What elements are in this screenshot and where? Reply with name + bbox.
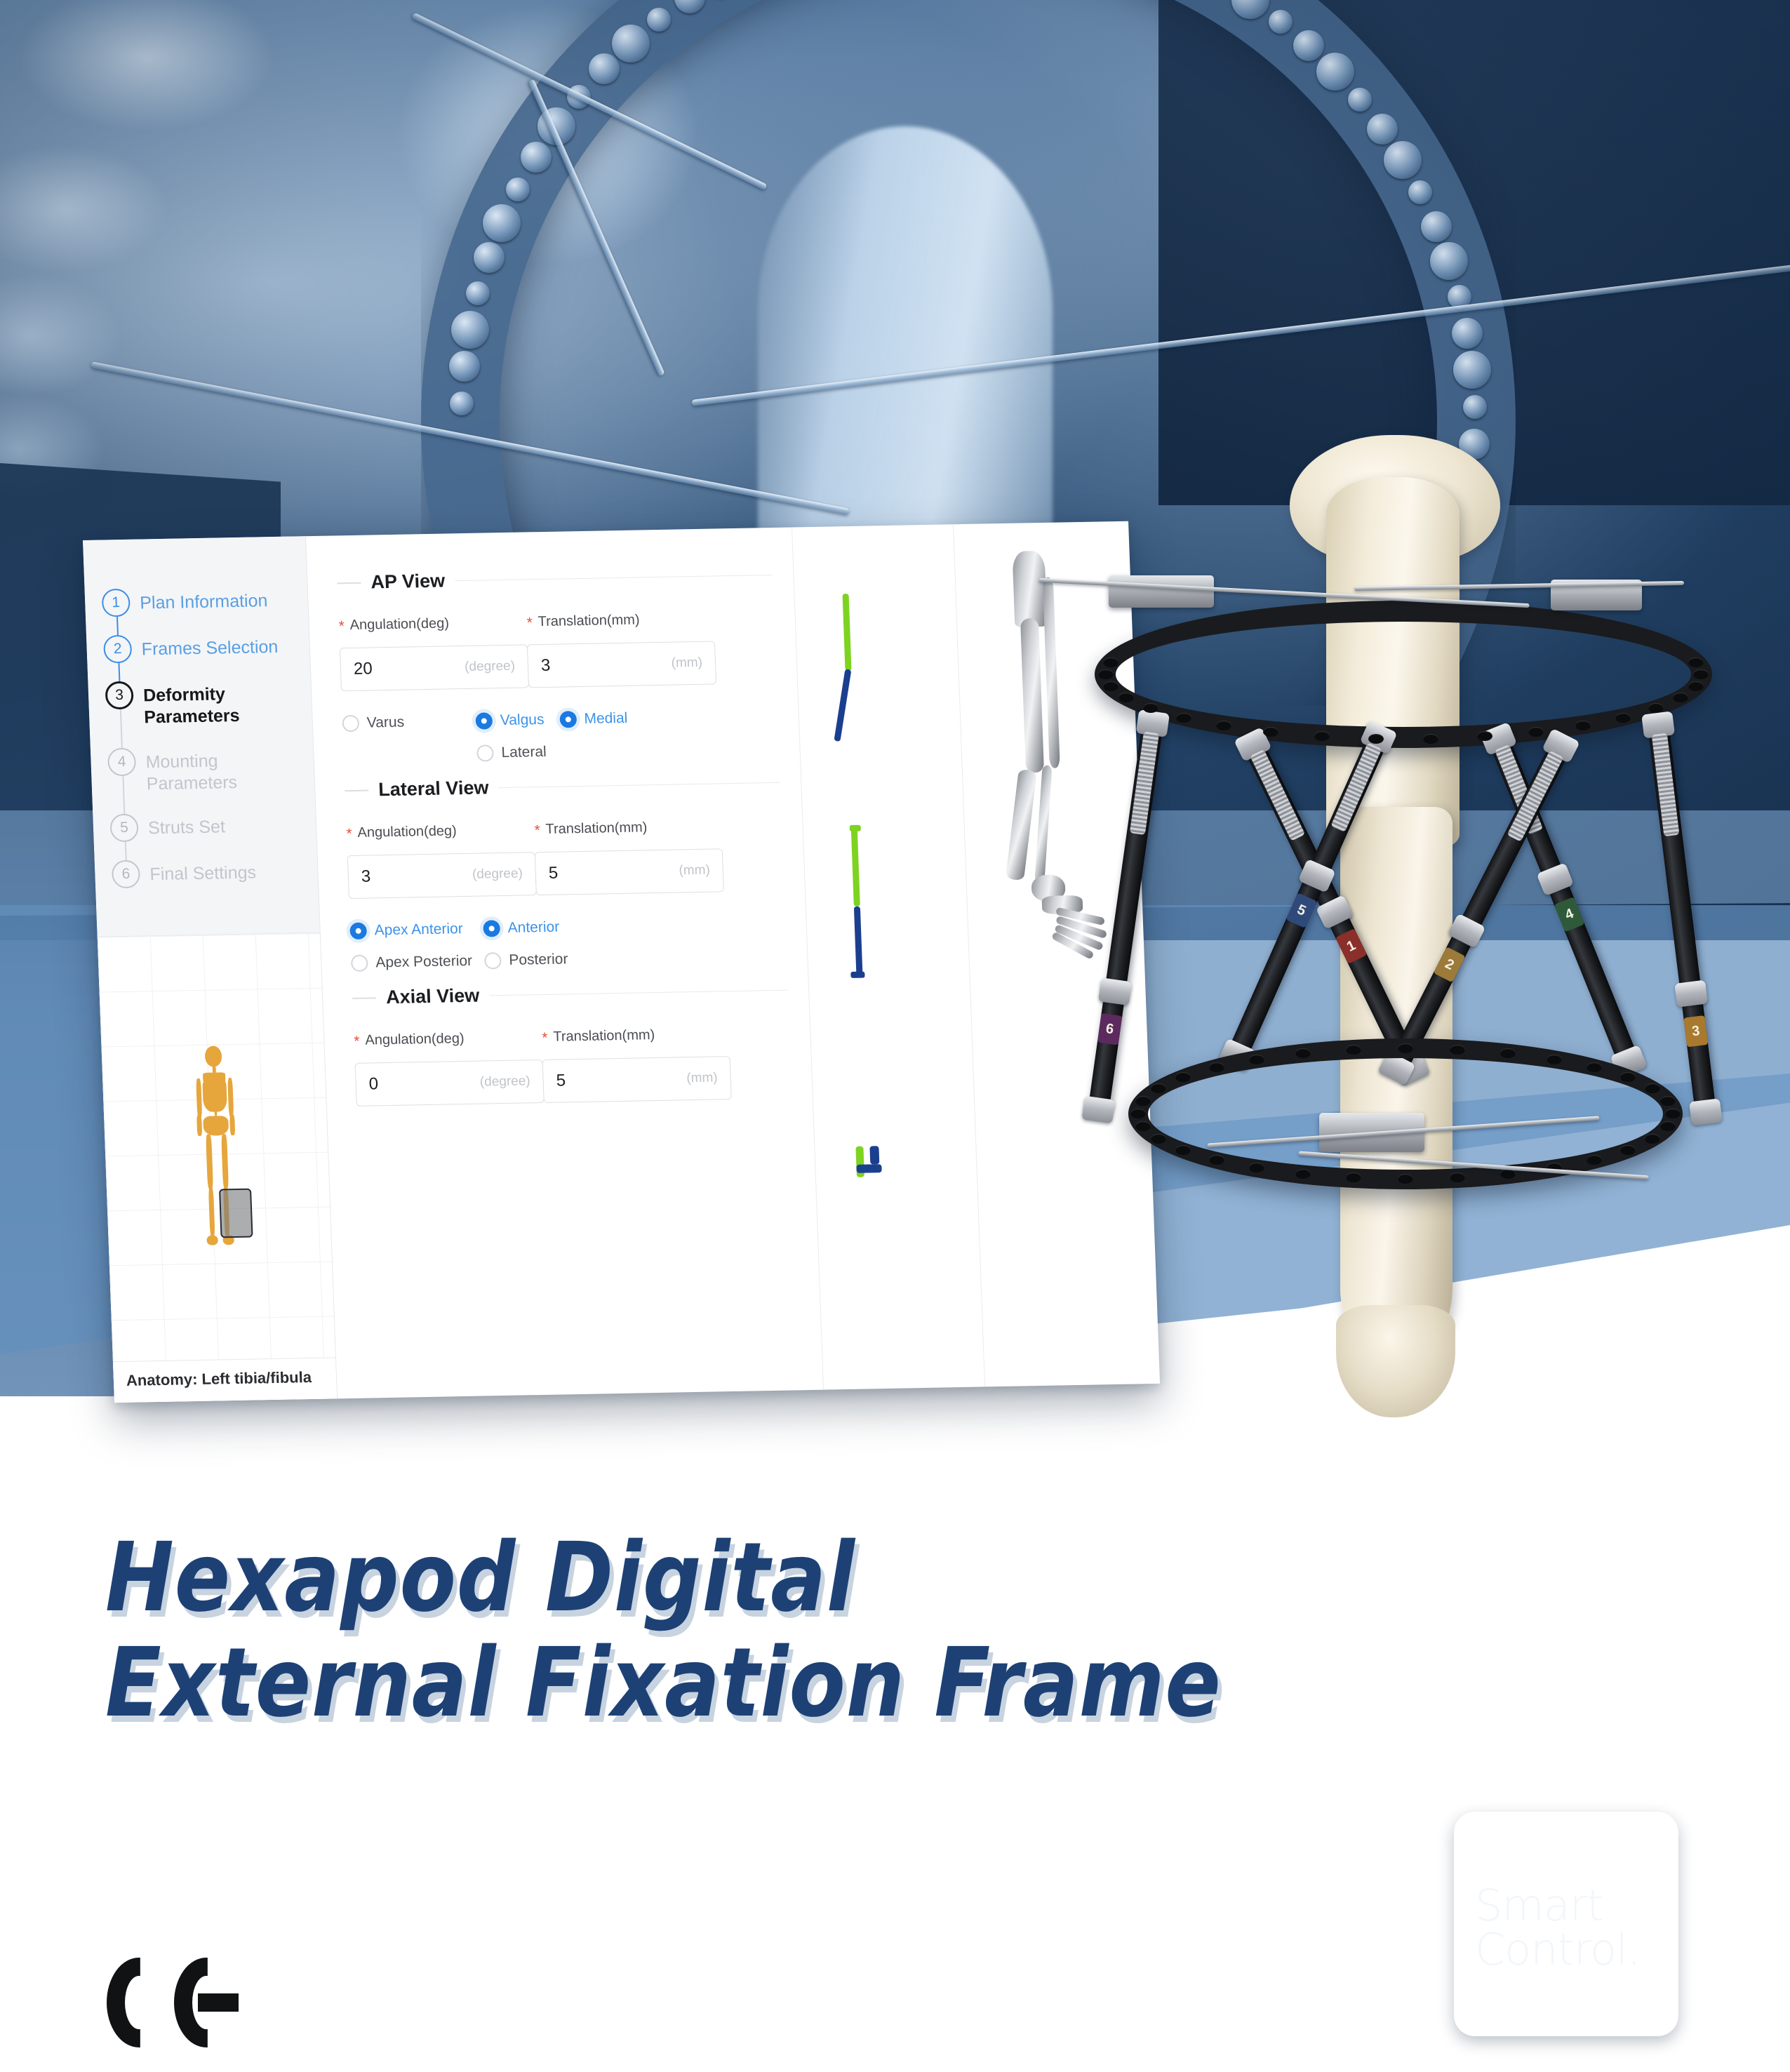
strut-collar (1448, 913, 1486, 948)
step-number-badge: 6 (112, 860, 140, 889)
radio-label: Apex Anterior (374, 921, 463, 939)
ring-mounting-hole (1368, 734, 1384, 744)
wizard-step-6[interactable]: 6Final Settings (112, 857, 319, 900)
translation-input[interactable]: 3(mm) (527, 641, 716, 688)
ring-mounting-hole (1209, 1062, 1224, 1072)
ring-mounting-hole (1587, 1155, 1602, 1165)
section-lateral-view: Lateral ViewAngulation(deg)Translation(m… (345, 772, 787, 972)
wizard-step-1[interactable]: 1Plan Information (102, 585, 309, 635)
ring-mounting-hole (1151, 1134, 1166, 1144)
section-rule (489, 990, 787, 996)
proximal-ring (1095, 601, 1712, 748)
axial-deformity-preview (848, 1143, 892, 1183)
planning-software-window[interactable]: 1Plan Information2Frames Selection3Defor… (83, 521, 1160, 1403)
radio-label: Valgus (500, 711, 545, 729)
ring-mounting-hole (1665, 1109, 1681, 1118)
ring-mounting-hole (1175, 1145, 1191, 1155)
angulation-label: Angulation(deg) (354, 1029, 542, 1049)
ring-mounting-hole (1135, 1096, 1151, 1106)
radio-dot-icon (476, 744, 494, 761)
field-inputs-row: 20(degree)3(mm) (340, 640, 776, 691)
radio-label: Varus (366, 714, 404, 732)
bfix-arch-icon: BFIX (1555, 1967, 1667, 2032)
strut-number-badge: 4 (1554, 897, 1585, 932)
section-header: Lateral View (345, 772, 780, 801)
radio-dot-icon (351, 955, 368, 972)
radio-dot-icon (483, 920, 500, 937)
strut-joint (1689, 1098, 1723, 1125)
translation-value: 5 (548, 864, 558, 883)
section-title: Lateral View (378, 777, 489, 801)
angulation-input[interactable]: 20(degree) (340, 644, 529, 691)
step-number-badge: 3 (105, 681, 133, 710)
radio-medial[interactable]: Medial (559, 710, 628, 728)
ring-mounting-hole (1688, 657, 1704, 667)
section-rule (455, 575, 772, 581)
angulation-unit: (degree) (479, 1074, 530, 1090)
radio-group: VarusValgusMedialLateral (342, 707, 779, 764)
angulation-label: Angulation(deg) (346, 822, 535, 841)
ring-mounting-hole (1249, 1055, 1264, 1064)
headline-line-1: Hexapod Digital (105, 1526, 1312, 1631)
angulation-unit: (degree) (465, 659, 516, 675)
angulation-value: 0 (368, 1074, 378, 1094)
ce-letter-e (174, 1958, 239, 2047)
skeleton-figure-icon (182, 1045, 251, 1249)
radio-dot-icon (475, 712, 493, 729)
wizard-step-3[interactable]: 3Deformity Parameters (105, 678, 312, 748)
section-dash-icon (345, 789, 368, 791)
radio-dot-icon (342, 715, 359, 732)
wizard-step-2[interactable]: 2Frames Selection (103, 631, 310, 681)
translation-label: Translation(mm) (542, 1027, 655, 1045)
radio-apex-anterior[interactable]: Apex Anterior (349, 921, 483, 940)
translation-value: 5 (556, 1071, 566, 1090)
translation-unit: (mm) (686, 1070, 718, 1086)
radio-varus[interactable]: Varus (342, 713, 476, 732)
radio-posterior[interactable]: Posterior (484, 950, 608, 969)
ring-mounting-hole (1118, 693, 1134, 702)
radio-label: Lateral (501, 744, 547, 761)
section-ap-view: AP ViewAngulation(deg)Translation(mm)20(… (337, 564, 779, 764)
translation-input[interactable]: 5(mm) (535, 848, 724, 895)
wire-clamp (1109, 575, 1214, 608)
strut-3: 3 (1648, 723, 1716, 1115)
section-title: Axial View (386, 985, 480, 1008)
deformity-parameters-form: AP ViewAngulation(deg)Translation(mm)20(… (306, 527, 823, 1398)
ring-mounting-hole (1693, 669, 1709, 679)
strut-threaded-rod (1130, 731, 1159, 835)
radio-row: Apex AnteriorAnterior (349, 915, 785, 940)
logo-line-1: Smart (1475, 1883, 1641, 1927)
translation-input[interactable]: 5(mm) (542, 1056, 732, 1103)
strut-6: 6 (1088, 721, 1163, 1114)
step-label: Struts Set (147, 812, 225, 839)
wizard-step-list: 1Plan Information2Frames Selection3Defor… (85, 585, 319, 900)
step-connector (122, 775, 125, 814)
ring-mounting-hole (1346, 1045, 1361, 1055)
translation-value: 3 (540, 656, 550, 676)
step-number-badge: 5 (109, 814, 138, 843)
translation-unit: (mm) (679, 863, 710, 879)
translation-unit: (mm) (671, 655, 702, 671)
anatomy-caption: Anatomy: Left tibia/fibula (113, 1357, 337, 1403)
radio-label: Anterior (507, 919, 559, 937)
angulation-input[interactable]: 3(degree) (347, 852, 537, 899)
angulation-value: 3 (361, 867, 370, 886)
step-label: Mounting Parameters (145, 744, 295, 795)
hexapod-frame-product-photo: 615423 (1067, 477, 1740, 1459)
strut-threaded-rod (1250, 749, 1305, 841)
section-rule (498, 782, 780, 788)
bfix-text: BFIX (1604, 2004, 1667, 2032)
strut-number-badge: 6 (1097, 1013, 1123, 1045)
radio-apex-posterior[interactable]: Apex Posterior (351, 953, 485, 972)
step-connector (119, 709, 122, 748)
anatomy-grid[interactable] (98, 933, 335, 1361)
angulation-label: Angulation(deg) (338, 614, 527, 634)
radio-row: Apex PosteriorPosterior (351, 947, 787, 972)
ring-mounting-hole (1103, 681, 1118, 691)
logo-wordmark: Smart Control. (1475, 1883, 1641, 1972)
ring-mounting-hole (1660, 1121, 1676, 1131)
step-connector (124, 842, 126, 860)
ring-mounting-hole (1098, 669, 1114, 679)
step-label: Final Settings (149, 857, 257, 885)
ring-mounting-hole (1398, 1043, 1413, 1053)
ring-mounting-hole (1620, 1145, 1636, 1155)
radio-label: Medial (584, 710, 628, 728)
radio-lateral[interactable]: Lateral (476, 744, 547, 762)
section-dash-icon (352, 997, 376, 999)
wizard-main-panel: AP ViewAngulation(deg)Translation(mm)20(… (306, 521, 1160, 1399)
page-title: Hexapod Digital External Fixation Frame (105, 1526, 1509, 1736)
ring-mounting-hole (1645, 1134, 1660, 1144)
wizard-step-4[interactable]: 4Mounting Parameters (107, 744, 315, 814)
ring-mounting-hole (1660, 1096, 1676, 1106)
radio-valgus[interactable]: Valgus (475, 711, 545, 730)
ring-mounting-hole (1295, 1169, 1311, 1179)
ce-letter-c (107, 1958, 171, 2047)
distal-bone-end (1336, 1305, 1455, 1417)
headline-line-2: External Fixation Frame (105, 1631, 1312, 1737)
ap-deformity-preview (829, 593, 876, 741)
step-label: Deformity Parameters (142, 679, 292, 729)
logo-line-2: Control. (1475, 1927, 1641, 1972)
strut-4: 4 (1488, 734, 1639, 1067)
radio-label: Apex Posterior (375, 953, 473, 972)
radio-group: Apex AnteriorAnteriorApex PosteriorPoste… (349, 915, 787, 972)
field-inputs-row: 0(degree)5(mm) (355, 1055, 792, 1107)
translation-label: Translation(mm) (534, 820, 648, 838)
field-labels-row: Angulation(deg)Translation(mm) (338, 610, 774, 634)
step-number-badge: 4 (107, 747, 136, 776)
deformity-preview-column (792, 524, 984, 1389)
field-labels-row: Angulation(deg)Translation(mm) (346, 817, 782, 841)
strut-threaded-rod (1652, 733, 1680, 837)
strut-collar (1098, 977, 1132, 1005)
step-label: Frames Selection (141, 632, 279, 661)
translation-label: Translation(mm) (526, 612, 640, 630)
radio-row: Lateral (476, 740, 779, 762)
angulation-unit: (degree) (472, 867, 523, 883)
field-inputs-row: 3(degree)5(mm) (347, 848, 784, 899)
wizard-step-5[interactable]: 5Struts Set (109, 810, 316, 860)
section-axial-view: Axial ViewAngulation(deg)Translation(mm)… (352, 980, 792, 1107)
radio-label: Posterior (509, 951, 568, 969)
step-connector (116, 617, 119, 635)
step-number-badge: 1 (102, 589, 131, 617)
strut-number-badge: 5 (1286, 893, 1317, 928)
ring-mounting-hole (1176, 713, 1191, 723)
ring-mounting-hole (1398, 1174, 1413, 1184)
angulation-value: 20 (353, 659, 373, 679)
step-number-badge: 2 (103, 635, 132, 664)
section-dash-icon (337, 582, 361, 584)
section-title: AP View (370, 570, 446, 594)
lateral-deformity-preview (837, 827, 885, 982)
radio-dot-icon (349, 923, 367, 940)
anatomy-panel: Anatomy: Left tibia/fibula (98, 933, 337, 1403)
arch-shape (1555, 1967, 1636, 2008)
strut-collar (1537, 862, 1575, 896)
radio-dot-icon (559, 711, 577, 728)
wizard-sidebar: 1Plan Information2Frames Selection3Defor… (83, 536, 338, 1403)
smart-control-logo[interactable]: Smart Control. BFIX (1454, 1812, 1678, 2036)
strut-collar (1674, 980, 1708, 1008)
ring-mounting-hole (1547, 1055, 1562, 1064)
field-labels-row: Angulation(deg)Translation(mm) (354, 1025, 789, 1049)
ring-mounting-hole (1500, 1048, 1516, 1058)
ce-mark-icon (107, 1958, 247, 2049)
radio-row: VarusValgusMedial (342, 707, 777, 732)
step-label: Plan Information (140, 586, 268, 615)
ring-mounting-hole (1450, 1045, 1465, 1055)
ring-mounting-hole (1209, 1155, 1224, 1165)
ring-mounting-hole (1130, 1109, 1146, 1118)
section-header: Axial View (352, 980, 788, 1009)
step-connector (118, 663, 120, 681)
ring-mounting-hole (1688, 681, 1704, 691)
radio-dot-icon (484, 952, 502, 969)
ring-mounting-hole (1346, 1172, 1361, 1182)
radio-anterior[interactable]: Anterior (483, 918, 607, 937)
strut-number-badge: 3 (1683, 1015, 1708, 1047)
strut-joint (1081, 1096, 1115, 1124)
anatomy-selection-box[interactable] (218, 1188, 253, 1238)
angulation-input[interactable]: 0(degree) (355, 1060, 545, 1107)
ring-mounting-hole (1423, 734, 1438, 744)
section-header: AP View (337, 564, 773, 594)
